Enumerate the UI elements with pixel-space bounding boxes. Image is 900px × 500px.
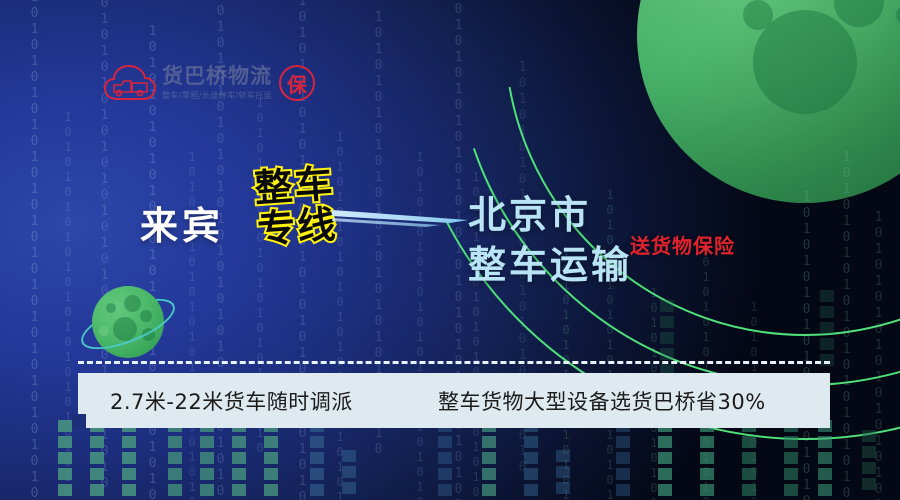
destination-city-block: 北京市 整车运输 xyxy=(468,190,632,290)
block-cell xyxy=(122,468,136,480)
block-cell xyxy=(784,436,798,448)
block-cell xyxy=(820,338,834,350)
block-cell xyxy=(482,468,496,480)
block-cell xyxy=(90,436,104,448)
block-cell xyxy=(58,468,72,480)
block-cell xyxy=(556,450,570,462)
block-cell xyxy=(742,468,756,480)
block-cell xyxy=(524,452,538,464)
block-cell xyxy=(862,430,876,442)
block-cell xyxy=(658,484,672,496)
binary-column: 1010101010101010101010101010101010 xyxy=(872,210,885,500)
destination-line-1: 北京市 xyxy=(468,190,632,240)
block-cell xyxy=(122,452,136,464)
block-cell xyxy=(200,484,214,496)
block-cell xyxy=(660,316,674,328)
block-cell xyxy=(742,436,756,448)
binary-column: 10101010101010101010101010 xyxy=(62,110,74,500)
block-cell xyxy=(90,452,104,464)
block-cell xyxy=(200,436,214,448)
block-cell xyxy=(616,436,630,448)
arrow-right-icon-svg xyxy=(330,196,480,236)
block-cell xyxy=(264,468,278,480)
block-cell xyxy=(232,484,246,496)
block-cell xyxy=(820,354,834,366)
block-cell xyxy=(616,452,630,464)
block-cell xyxy=(264,484,278,496)
block-cell xyxy=(700,436,714,448)
block-cell xyxy=(200,468,214,480)
block-cell xyxy=(742,484,756,496)
block-cell xyxy=(58,452,72,464)
block-cell xyxy=(820,290,834,302)
block-cell xyxy=(310,468,324,480)
block-cell xyxy=(90,468,104,480)
block-cell xyxy=(310,452,324,464)
block-cell xyxy=(232,452,246,464)
block-cell xyxy=(660,348,674,360)
insurance-stamp-badge: 保 xyxy=(279,65,315,101)
block-cell xyxy=(742,452,756,464)
block-cell xyxy=(90,484,104,496)
block-cell xyxy=(784,484,798,496)
block-cell xyxy=(784,452,798,464)
block-cell xyxy=(342,466,356,478)
block-cell xyxy=(524,484,538,496)
route-badge-line1: 整车 xyxy=(253,165,335,208)
block-cell xyxy=(168,468,182,480)
block-cell xyxy=(556,482,570,494)
block-cell xyxy=(58,420,72,432)
block-cell xyxy=(862,478,876,490)
origin-city-label: 来宾 xyxy=(140,195,224,250)
route-badge: 整车 专线 xyxy=(253,165,338,249)
block-cell xyxy=(820,322,834,334)
block-cell xyxy=(862,446,876,458)
block-cell xyxy=(818,484,832,496)
brand-wordmark: 货巴桥物流 整车/零担/长途拼车/轿车托运 xyxy=(162,65,272,100)
block-cell xyxy=(232,436,246,448)
brand-tagline: 整车/零担/长途拼车/轿车托运 xyxy=(162,90,272,101)
block-cell xyxy=(658,468,672,480)
block-cell xyxy=(616,484,630,496)
block-cell xyxy=(700,484,714,496)
binary-column: 101010101010101010101010 xyxy=(700,240,712,500)
block-cell xyxy=(168,484,182,496)
block-cell xyxy=(168,436,182,448)
block-cell xyxy=(264,452,278,464)
block-cell xyxy=(438,484,452,496)
block-cell xyxy=(700,468,714,480)
binary-column: 101010101010101010101010101010 xyxy=(334,130,346,500)
binary-column: 1010101010101010101010101010101010101010 xyxy=(840,150,853,500)
block-cell xyxy=(122,436,136,448)
block-cell xyxy=(482,436,496,448)
bottom-info-bar: 2.7米-22米货车随时调派 整车货物大型设备选货巴桥省30% xyxy=(78,373,830,428)
block-cell xyxy=(310,484,324,496)
bottom-bar-left-text: 2.7米-22米货车随时调派 xyxy=(110,386,353,416)
block-cell xyxy=(556,466,570,478)
bottom-bar-right-text: 整车货物大型设备选货巴桥省30% xyxy=(438,386,766,416)
insurance-note-label: 送货物保险 xyxy=(630,230,735,259)
block-cell xyxy=(200,452,214,464)
route-badge-line2: 专线 xyxy=(256,206,338,249)
block-cell xyxy=(342,450,356,462)
brand-name: 货巴桥物流 xyxy=(162,65,272,87)
block-cell xyxy=(818,452,832,464)
block-cell xyxy=(818,436,832,448)
block-cell xyxy=(862,462,876,474)
block-cell xyxy=(524,468,538,480)
binary-column: 101010101010101010101010101010101010 xyxy=(800,190,813,500)
block-cell xyxy=(232,468,246,480)
block-cell xyxy=(58,484,72,496)
block-cell xyxy=(168,452,182,464)
planet-crater xyxy=(124,295,141,312)
block-cell xyxy=(524,436,538,448)
block-cell xyxy=(658,436,672,448)
cloud-truck-icon-svg xyxy=(104,64,156,102)
binary-column: 10101010101010101010101010101010101010 xyxy=(28,0,41,500)
block-cell xyxy=(818,468,832,480)
block-cell xyxy=(660,332,674,344)
block-cell xyxy=(438,452,452,464)
block-cell xyxy=(122,484,136,496)
brand-logo[interactable]: 货巴桥物流 整车/零担/长途拼车/轿车托运 xyxy=(104,64,272,102)
block-cell xyxy=(482,452,496,464)
block-cell xyxy=(784,468,798,480)
block-cell xyxy=(658,452,672,464)
destination-line-2: 整车运输 xyxy=(468,240,632,290)
divider-dashed-line xyxy=(78,361,830,364)
block-cell xyxy=(482,484,496,496)
planet-large xyxy=(637,0,900,203)
block-cell xyxy=(438,436,452,448)
poster-canvas: 1010101010101010101010101010101010101010… xyxy=(0,0,900,500)
planet-crater xyxy=(106,303,116,313)
block-cell xyxy=(660,300,674,312)
insurance-stamp-label: 保 xyxy=(287,69,307,98)
block-cell xyxy=(310,436,324,448)
block-cell xyxy=(264,436,278,448)
planet-crater xyxy=(743,0,773,30)
block-cell xyxy=(700,452,714,464)
planet-small xyxy=(78,276,178,368)
block-cell xyxy=(342,482,356,494)
cloud-truck-icon xyxy=(104,64,156,102)
bottom-bar-corner-accent xyxy=(72,414,86,428)
block-cell xyxy=(58,436,72,448)
arrow-right-icon xyxy=(330,196,480,240)
block-cell xyxy=(820,306,834,318)
block-cell xyxy=(438,468,452,480)
block-cell xyxy=(616,468,630,480)
